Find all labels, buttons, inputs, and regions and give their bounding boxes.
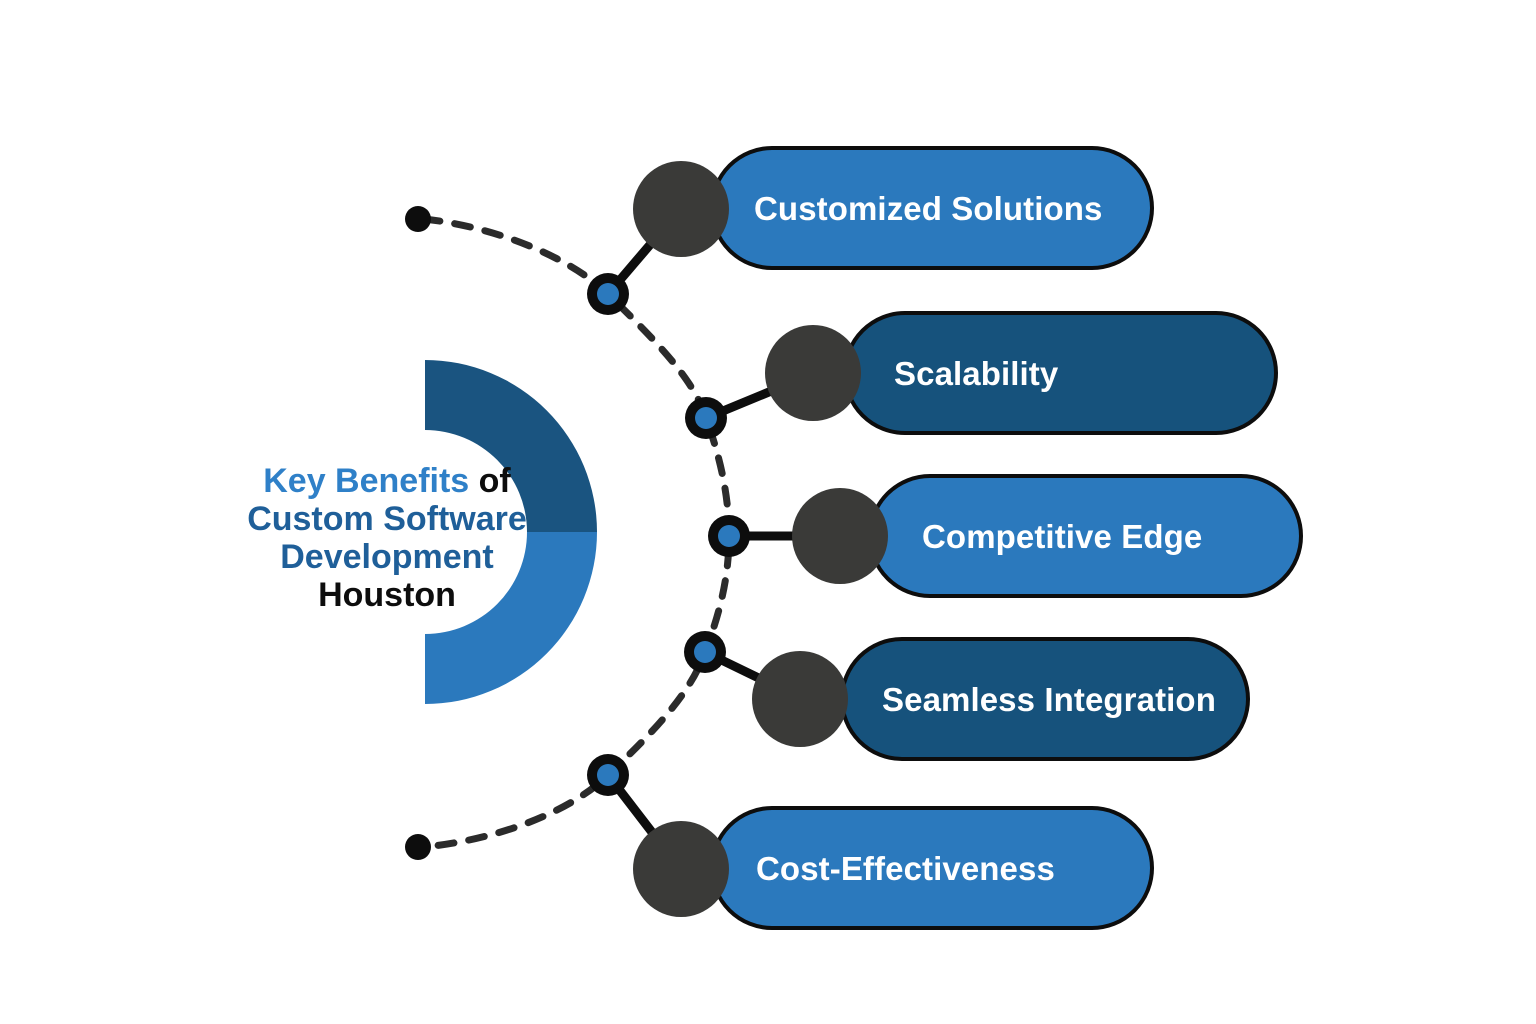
dashed-start-dot bbox=[405, 206, 431, 232]
benefit-pill-cost-effectiveness[interactable]: Cost-Effectiveness bbox=[710, 806, 1154, 930]
title-word-of: of bbox=[469, 462, 511, 500]
benefit-label-3: Competitive Edge bbox=[922, 520, 1202, 553]
knob-circle-5 bbox=[633, 821, 729, 917]
benefit-pill-seamless-integration[interactable]: Seamless Integration bbox=[840, 637, 1250, 761]
knob-circle-4 bbox=[752, 651, 848, 747]
knob-circle-3 bbox=[792, 488, 888, 584]
knob-circle-1 bbox=[633, 161, 729, 257]
infographic-title: Key Benefits of Custom Software Developm… bbox=[212, 462, 562, 614]
title-accent-key-benefits: Key Benefits bbox=[263, 462, 469, 500]
title-line-2: Custom Software bbox=[212, 500, 562, 538]
title-line-3: Development bbox=[212, 538, 562, 576]
benefit-pill-competitive-edge[interactable]: Competitive Edge bbox=[868, 474, 1303, 598]
benefit-label-1: Customized Solutions bbox=[754, 192, 1103, 225]
title-line-1: Key Benefits of bbox=[212, 462, 562, 500]
benefit-label-5: Cost-Effectiveness bbox=[756, 852, 1055, 885]
benefit-label-4: Seamless Integration bbox=[882, 683, 1216, 716]
benefit-pill-scalability[interactable]: Scalability bbox=[843, 311, 1278, 435]
dashed-end-dot bbox=[405, 834, 431, 860]
knob-circle-2 bbox=[765, 325, 861, 421]
benefit-label-2: Scalability bbox=[894, 357, 1058, 390]
infographic-canvas: Customized Solutions Scalability Competi… bbox=[0, 0, 1536, 1024]
title-line-4: Houston bbox=[212, 576, 562, 614]
benefit-pill-customized-solutions[interactable]: Customized Solutions bbox=[710, 146, 1154, 270]
